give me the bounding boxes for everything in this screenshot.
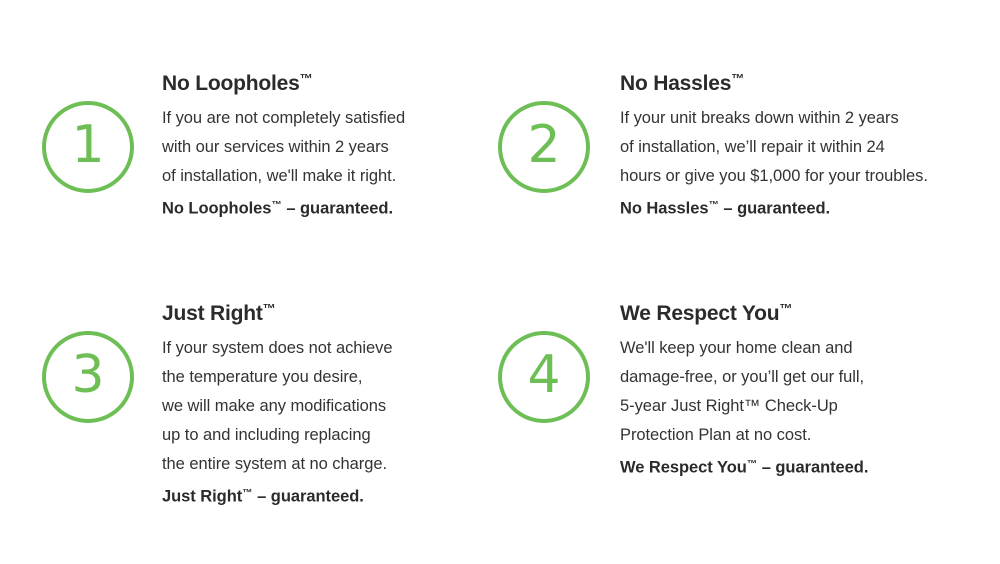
guarantee-line: If your system does not achieve [162, 334, 498, 363]
trademark-icon: ™ [242, 488, 252, 499]
guarantee-item-4: 4 We Respect You™ We'll keep your home c… [498, 302, 954, 511]
guarantee-closing-line-4: We Respect You™ – guaranteed. [620, 450, 954, 482]
badge-wrap-1: 1 [42, 101, 138, 197]
guarantee-closing-prefix-1: No Loopholes [162, 199, 271, 217]
guarantee-lines-3: If your system does not achieve the temp… [162, 334, 498, 511]
guarantee-title-text-2: No Hassles [620, 72, 731, 95]
guarantee-body-3: Just Right™ If your system does not achi… [138, 302, 498, 511]
guarantee-line: the entire system at no charge. [162, 450, 498, 479]
number-badge-circle-4: 4 [498, 331, 590, 423]
guarantee-closing-suffix-1: – guaranteed. [282, 199, 393, 217]
number-badge-circle-2: 2 [498, 101, 590, 193]
guarantee-item-2: 2 No Hassles™ If your unit breaks down w… [498, 72, 954, 302]
guarantee-line: the temperature you desire, [162, 363, 498, 392]
guarantee-line: of installation, we’ll repair it within … [620, 133, 954, 162]
guarantee-title-1: No Loopholes™ [162, 72, 498, 96]
trademark-icon: ™ [271, 200, 281, 211]
guarantee-closing-line-1: No Loopholes™ – guaranteed. [162, 191, 498, 223]
guarantee-title-text-1: No Loopholes [162, 72, 300, 95]
guarantee-item-1: 1 No Loopholes™ If you are not completel… [42, 72, 498, 302]
guarantee-closing-suffix-3: – guaranteed. [253, 487, 364, 505]
guarantee-line: Protection Plan at no cost. [620, 421, 954, 450]
badge-wrap-4: 4 [498, 331, 594, 427]
trademark-icon: ™ [747, 459, 757, 470]
guarantee-lines-1: If you are not completely satisfied with… [162, 104, 498, 223]
guarantee-closing-prefix-3: Just Right [162, 487, 242, 505]
guarantee-line: We'll keep your home clean and [620, 334, 954, 363]
guarantee-closing-line-2: No Hassles™ – guaranteed. [620, 191, 954, 223]
guarantee-lines-2: If your unit breaks down within 2 years … [620, 104, 954, 223]
badge-number-2: 2 [527, 119, 560, 171]
trademark-icon: ™ [263, 301, 276, 316]
trademark-icon: ™ [300, 71, 313, 86]
guarantee-closing-line-3: Just Right™ – guaranteed. [162, 479, 498, 511]
number-badge-circle-3: 3 [42, 331, 134, 423]
trademark-icon: ™ [731, 71, 744, 86]
number-badge-circle-1: 1 [42, 101, 134, 193]
guarantee-line: of installation, we'll make it right. [162, 162, 498, 191]
badge-number-1: 1 [71, 119, 104, 171]
guarantee-body-4: We Respect You™ We'll keep your home cle… [594, 302, 954, 482]
badge-wrap-3: 3 [42, 331, 138, 427]
guarantee-line: If your unit breaks down within 2 years [620, 104, 954, 133]
badge-wrap-2: 2 [498, 101, 594, 197]
guarantee-title-3: Just Right™ [162, 302, 498, 326]
guarantee-body-1: No Loopholes™ If you are not completely … [138, 72, 498, 223]
badge-number-4: 4 [527, 349, 560, 401]
guarantee-line: If you are not completely satisfied [162, 104, 498, 133]
guarantee-grid: 1 No Loopholes™ If you are not completel… [0, 0, 1000, 564]
trademark-icon: ™ [779, 301, 792, 316]
trademark-icon: ™ [708, 200, 718, 211]
guarantee-item-3: 3 Just Right™ If your system does not ac… [42, 302, 498, 511]
guarantee-title-4: We Respect You™ [620, 302, 954, 326]
guarantee-line: 5-year Just Right™ Check-Up [620, 392, 954, 421]
badge-number-3: 3 [71, 349, 104, 401]
guarantee-title-2: No Hassles™ [620, 72, 954, 96]
guarantee-closing-suffix-2: – guaranteed. [719, 199, 830, 217]
guarantee-title-text-3: Just Right [162, 302, 263, 325]
guarantee-closing-prefix-4: We Respect You [620, 458, 747, 476]
guarantee-line: hours or give you $1,000 for your troubl… [620, 162, 954, 191]
guarantee-closing-suffix-4: – guaranteed. [757, 458, 868, 476]
guarantee-closing-prefix-2: No Hassles [620, 199, 708, 217]
guarantee-body-2: No Hassles™ If your unit breaks down wit… [594, 72, 954, 223]
guarantee-line: we will make any modifications [162, 392, 498, 421]
guarantee-line: damage-free, or you’ll get our full, [620, 363, 954, 392]
guarantee-line: up to and including replacing [162, 421, 498, 450]
guarantee-title-text-4: We Respect You [620, 302, 779, 325]
guarantee-lines-4: We'll keep your home clean and damage-fr… [620, 334, 954, 482]
guarantee-line: with our services within 2 years [162, 133, 498, 162]
